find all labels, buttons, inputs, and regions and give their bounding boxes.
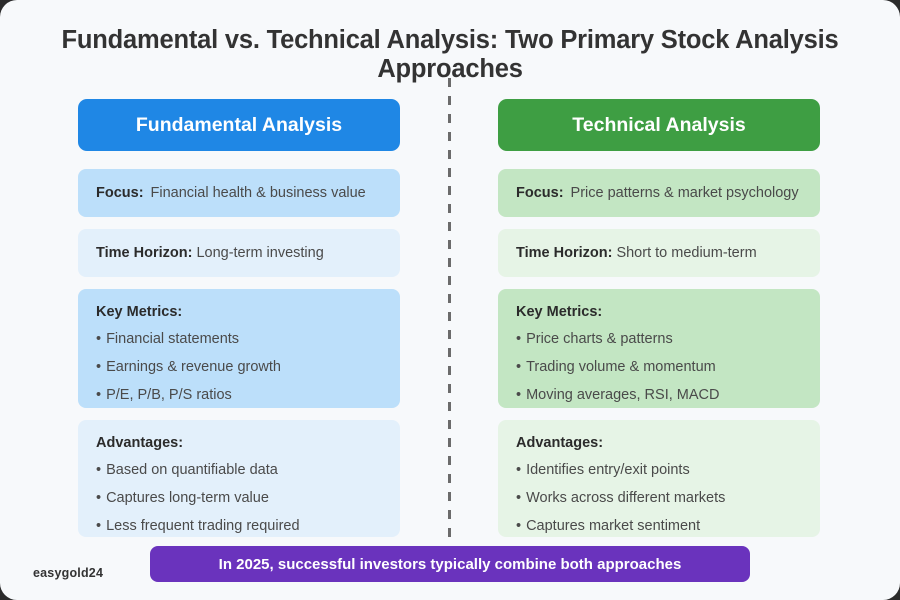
blocks-fundamental: Focus:Financial health & business value … (78, 169, 400, 537)
summary-banner: In 2025, successful investors typically … (150, 546, 750, 582)
time-horizon-value: Short to medium-term (616, 245, 756, 261)
bullet-icon: • (96, 387, 101, 403)
list-item: •Trading volume & momentum (516, 358, 802, 377)
bullet-icon: • (516, 518, 521, 534)
list-item-text: Identifies entry/exit points (526, 462, 690, 478)
focus-value: Financial health & business value (151, 185, 366, 201)
advantages-title: Advantages: (96, 435, 382, 451)
bullet-icon: • (96, 518, 101, 534)
focus-value: Price patterns & market psychology (571, 185, 799, 201)
bullet-icon: • (96, 359, 101, 375)
advantages-block-fundamental: Advantages: •Based on quantifiable data … (78, 420, 400, 537)
bullet-icon: • (516, 490, 521, 506)
time-horizon-value: Long-term investing (196, 245, 323, 261)
blocks-technical: Focus:Price patterns & market psychology… (498, 169, 820, 537)
time-horizon-row: Time Horizon: Long-term investing (96, 244, 382, 263)
bullet-icon: • (516, 387, 521, 403)
key-metrics-block-technical: Key Metrics: •Price charts & patterns •T… (498, 289, 820, 408)
time-horizon-block-fundamental: Time Horizon: Long-term investing (78, 229, 400, 277)
list-item-text: Captures market sentiment (526, 518, 700, 534)
key-metrics-title: Key Metrics: (516, 304, 802, 320)
focus-row: Focus:Financial health & business value (96, 184, 382, 203)
list-item: •Financial statements (96, 330, 382, 349)
list-item: •Price charts & patterns (516, 330, 802, 349)
key-metrics-block-fundamental: Key Metrics: •Financial statements •Earn… (78, 289, 400, 408)
key-metrics-title: Key Metrics: (96, 304, 382, 320)
focus-block-fundamental: Focus:Financial health & business value (78, 169, 400, 217)
page-title: Fundamental vs. Technical Analysis: Two … (0, 26, 900, 84)
list-item-text: Earnings & revenue growth (106, 359, 281, 375)
list-item-text: Financial statements (106, 331, 239, 347)
bullet-icon: • (96, 490, 101, 506)
list-item: •Based on quantifiable data (96, 461, 382, 480)
list-item-text: Moving averages, RSI, MACD (526, 387, 719, 403)
bullet-icon: • (516, 331, 521, 347)
list-item-text: P/E, P/B, P/S ratios (106, 387, 232, 403)
focus-label: Focus: (516, 185, 564, 201)
list-item-text: Less frequent trading required (106, 518, 299, 534)
time-horizon-label: Time Horizon: (516, 245, 612, 261)
focus-row: Focus:Price patterns & market psychology (516, 184, 802, 203)
list-item: •Captures market sentiment (516, 517, 802, 536)
bullet-icon: • (96, 331, 101, 347)
list-item-text: Trading volume & momentum (526, 359, 716, 375)
list-item: •P/E, P/B, P/S ratios (96, 386, 382, 405)
list-item-text: Captures long-term value (106, 490, 269, 506)
list-item-text: Based on quantifiable data (106, 462, 278, 478)
advantages-title: Advantages: (516, 435, 802, 451)
summary-banner-text: In 2025, successful investors typically … (219, 556, 682, 573)
watermark-logo: easygold24 (33, 566, 103, 580)
time-horizon-label: Time Horizon: (96, 245, 192, 261)
bullet-icon: • (516, 359, 521, 375)
focus-block-technical: Focus:Price patterns & market psychology (498, 169, 820, 217)
list-item-text: Price charts & patterns (526, 331, 673, 347)
list-item: •Earnings & revenue growth (96, 358, 382, 377)
column-header-fundamental: Fundamental Analysis (78, 99, 400, 151)
column-header-technical: Technical Analysis (498, 99, 820, 151)
focus-label: Focus: (96, 185, 144, 201)
column-technical: Technical Analysis Focus:Price patterns … (498, 99, 820, 549)
column-fundamental: Fundamental Analysis Focus:Financial hea… (78, 99, 400, 549)
bullet-icon: • (96, 462, 101, 478)
list-item-text: Works across different markets (526, 490, 725, 506)
advantages-block-technical: Advantages: •Identifies entry/exit point… (498, 420, 820, 537)
time-horizon-row: Time Horizon: Short to medium-term (516, 244, 802, 263)
bullet-icon: • (516, 462, 521, 478)
list-item: •Moving averages, RSI, MACD (516, 386, 802, 405)
column-divider (448, 78, 451, 546)
infographic-page: Fundamental vs. Technical Analysis: Two … (0, 0, 900, 600)
list-item: •Works across different markets (516, 489, 802, 508)
list-item: •Less frequent trading required (96, 517, 382, 536)
list-item: •Identifies entry/exit points (516, 461, 802, 480)
time-horizon-block-technical: Time Horizon: Short to medium-term (498, 229, 820, 277)
list-item: •Captures long-term value (96, 489, 382, 508)
